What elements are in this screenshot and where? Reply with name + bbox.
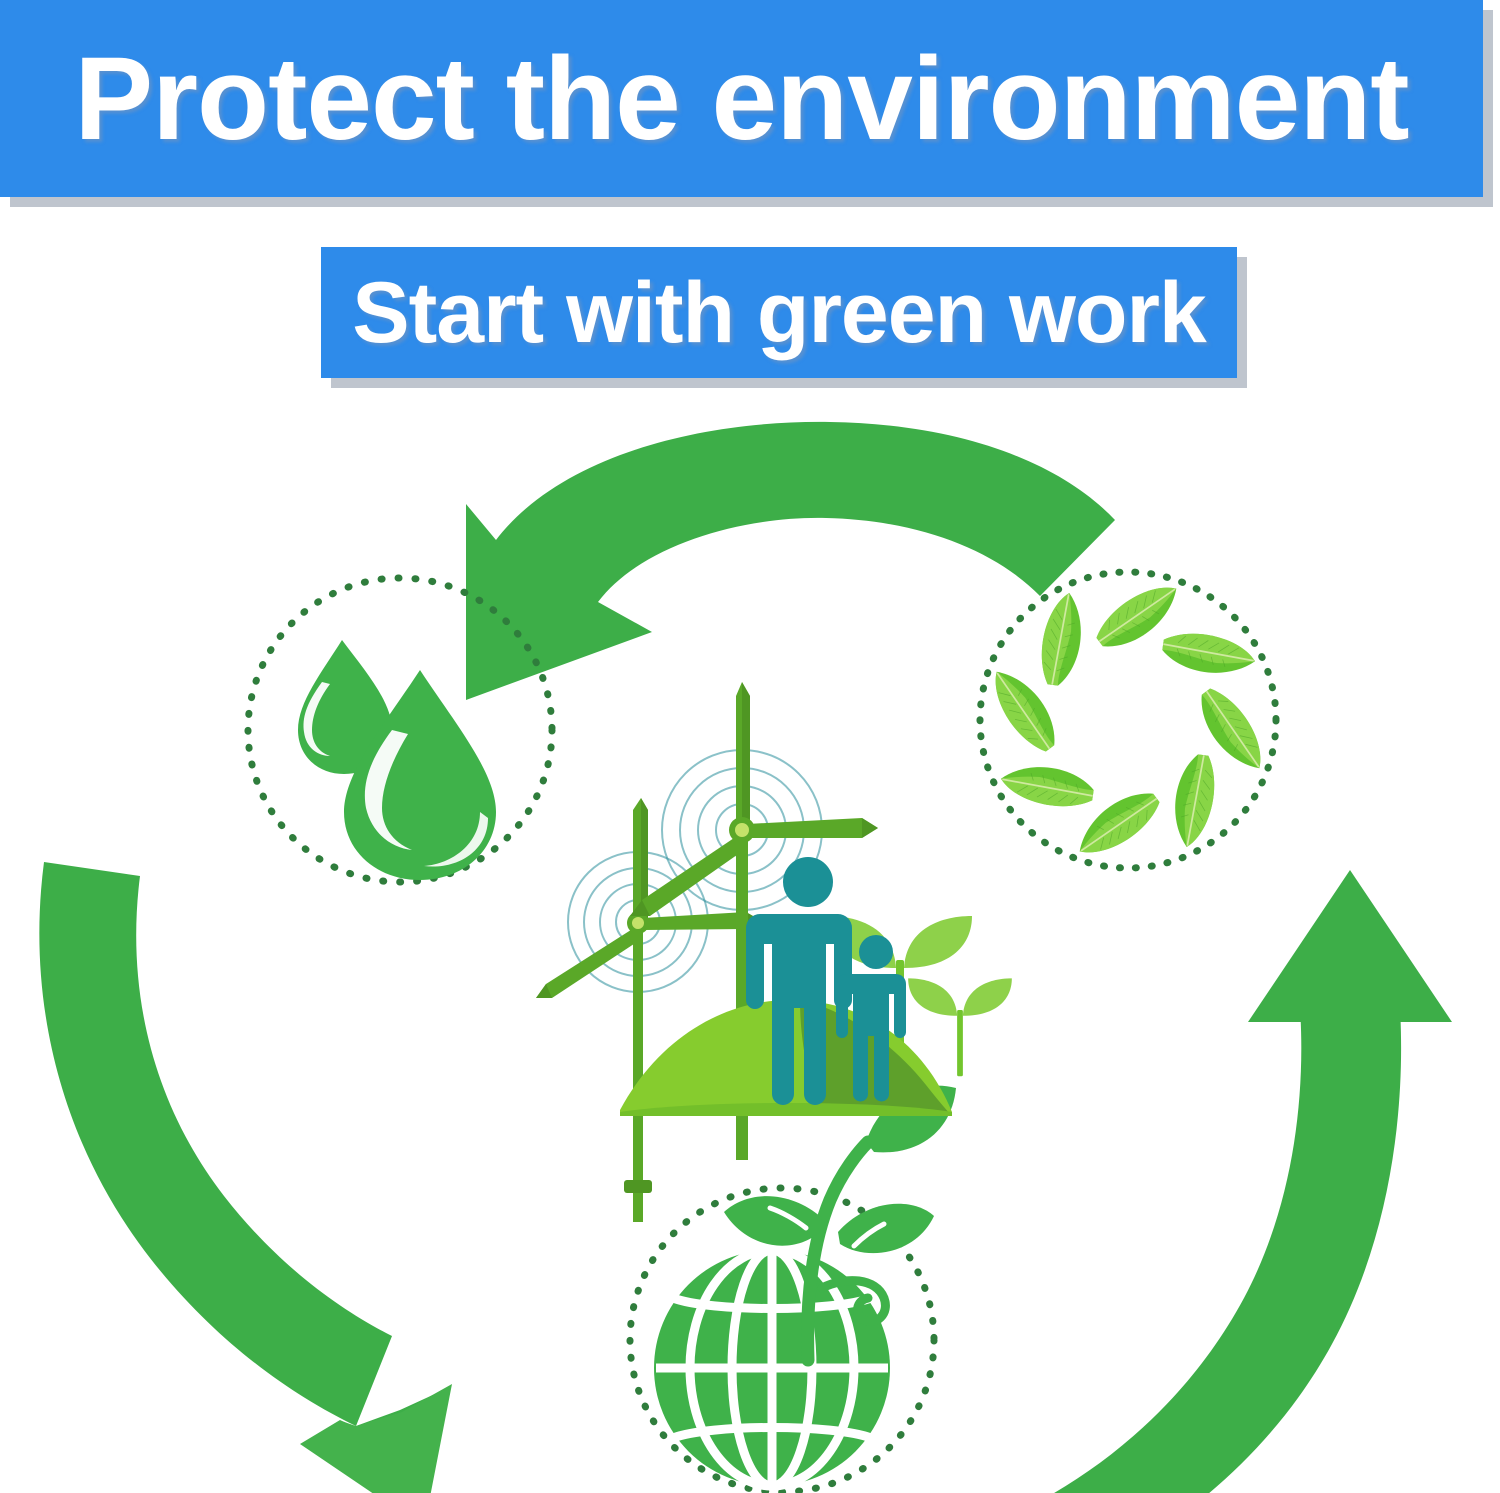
title-banner: Protect the environment: [0, 0, 1483, 197]
leaf-ring-node: [980, 572, 1276, 868]
page-subtitle: Start with green work: [352, 270, 1206, 356]
water-drops-node: [248, 578, 552, 882]
globe-sprout-node: [630, 1086, 956, 1492]
arrow-top: [466, 422, 1115, 700]
leaf-ring: [989, 581, 1267, 859]
wind-energy-family-scene: [536, 682, 1012, 1222]
subtitle-banner: Start with green work: [321, 247, 1237, 378]
arrow-left: [39, 862, 452, 1493]
green-cycle-diagram: [0, 400, 1500, 1493]
arrow-right: [1006, 870, 1452, 1493]
globe-icon: [654, 1250, 890, 1486]
page-title: Protect the environment: [74, 40, 1408, 158]
sprout-short: [908, 978, 1012, 1076]
